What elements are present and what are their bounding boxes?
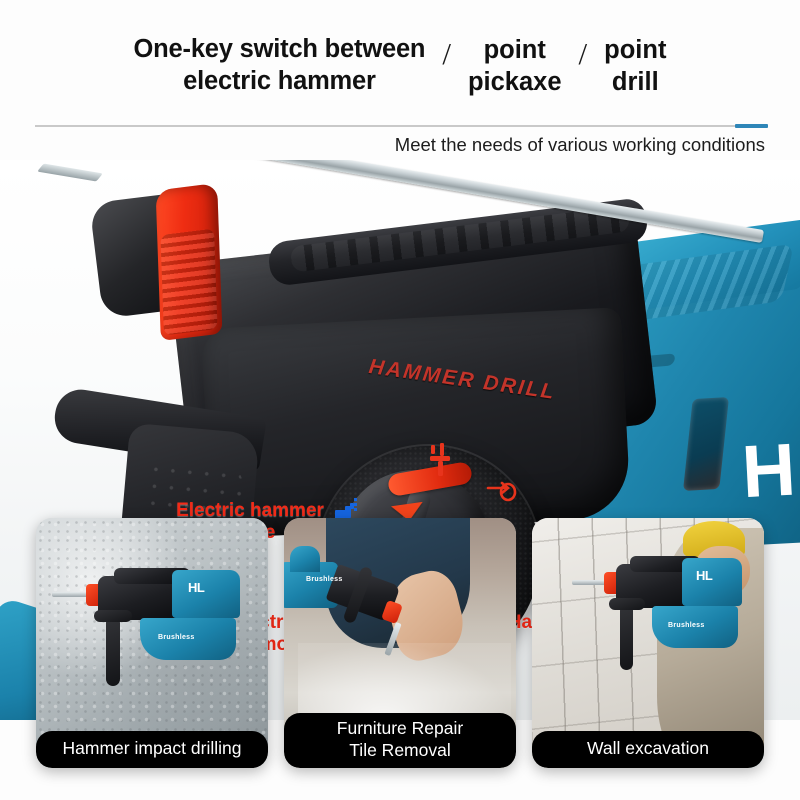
- separator-slash-2: /: [562, 34, 605, 72]
- product-feature-page: One-key switch between electric hammer /…: [0, 0, 800, 800]
- use-case-card[interactable]: Brushless Furniture Repair Tile Removal: [284, 518, 516, 768]
- mini-tool-brand: HL: [696, 568, 712, 583]
- headline-option-2: point pickaxe: [468, 35, 562, 98]
- option-3-line-2: drill: [604, 67, 666, 99]
- card-caption: Wall excavation: [532, 731, 764, 768]
- use-case-card[interactable]: HL Brushless Hammer impact drilling: [36, 518, 268, 768]
- subtitle-text: Meet the needs of various working condit…: [0, 134, 800, 156]
- brand-logo-h: H: [740, 427, 796, 515]
- option-3-line-1: point: [604, 35, 666, 67]
- mini-tool-brand: HL: [188, 580, 204, 595]
- card-caption: Hammer impact drilling: [36, 731, 268, 768]
- headline-line-1: One-key switch between: [134, 34, 426, 66]
- use-case-card[interactable]: HL Brushless Wall excavation: [532, 518, 764, 768]
- mini-tool-sub: Brushless: [306, 576, 343, 583]
- use-case-card-row: HL Brushless Hammer impact drilling: [0, 518, 800, 800]
- rotation-arrow-icon: [484, 478, 518, 504]
- option-2-line-2: pickaxe: [468, 67, 562, 99]
- option-2-line-1: point: [468, 35, 562, 67]
- hammer-drill-mode-icon: [428, 443, 458, 477]
- separator-slash-1: /: [425, 34, 468, 72]
- headline-primary: One-key switch between electric hammer: [134, 34, 426, 97]
- card-caption: Furniture Repair Tile Removal: [284, 713, 516, 768]
- header-divider: [35, 124, 768, 128]
- headline-line-2: electric hammer: [134, 66, 426, 98]
- divider-line: [35, 125, 735, 127]
- drill-bit-tip: [37, 163, 103, 181]
- header-title-row: One-key switch between electric hammer /…: [0, 34, 800, 98]
- headline-option-3: point drill: [604, 35, 666, 98]
- tool-chuck-ribs: [160, 229, 217, 336]
- mini-tool-sub: Brushless: [158, 634, 195, 641]
- mini-tool-sub: Brushless: [668, 622, 705, 629]
- divider-accent-segment: [735, 124, 768, 128]
